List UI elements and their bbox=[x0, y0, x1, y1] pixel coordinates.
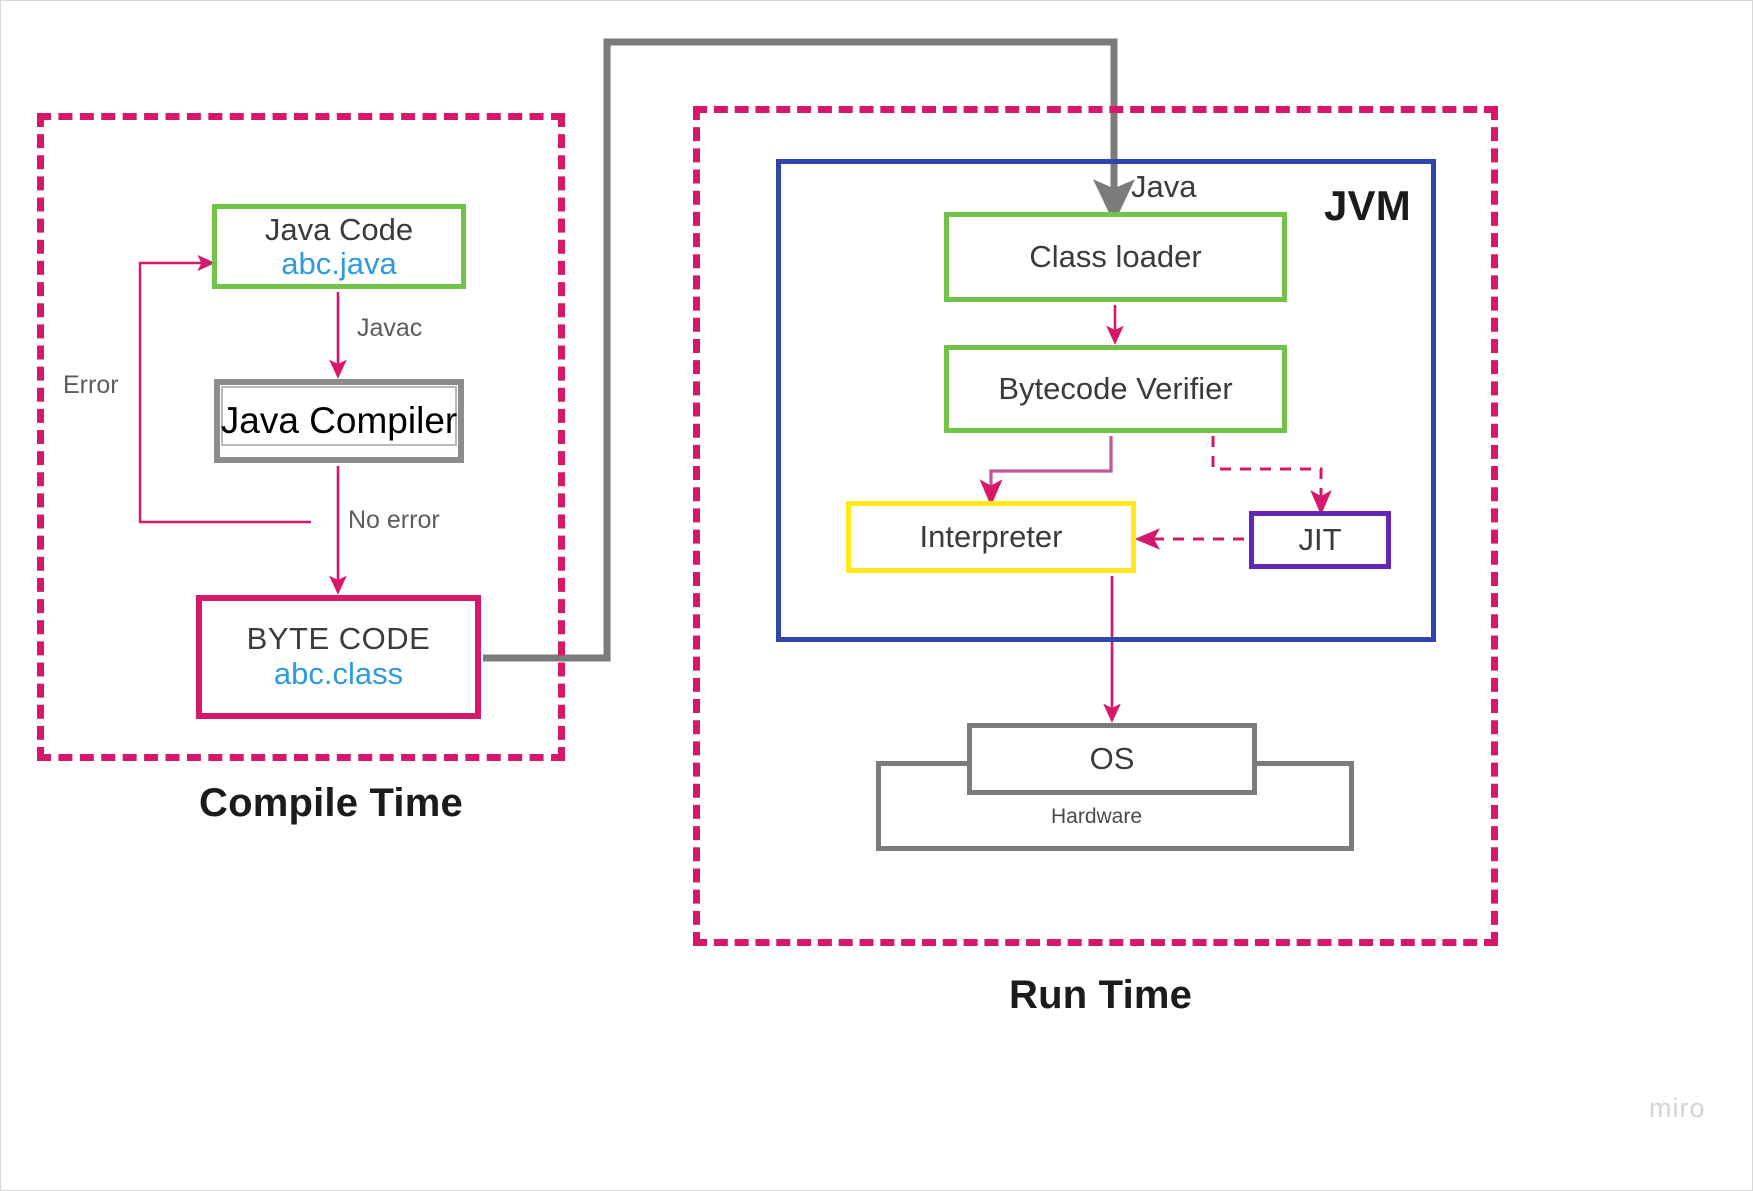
os-box[interactable]: OS bbox=[967, 723, 1257, 795]
class-loader-box[interactable]: Class loader bbox=[944, 212, 1287, 302]
os-label: OS bbox=[1090, 741, 1135, 777]
miro-watermark: miro bbox=[1649, 1093, 1706, 1124]
java-edge-label: Java bbox=[1131, 169, 1196, 205]
byte-code-title: BYTE CODE bbox=[247, 622, 431, 657]
jit-label: JIT bbox=[1298, 522, 1341, 558]
interpreter-box[interactable]: Interpreter bbox=[846, 501, 1136, 573]
run-time-label: Run Time bbox=[1009, 973, 1192, 1018]
bytecode-verifier-label: Bytecode Verifier bbox=[998, 371, 1232, 407]
javac-edge-label: Javac bbox=[357, 314, 422, 343]
compile-time-label: Compile Time bbox=[199, 781, 463, 826]
byte-code-filename: abc.class bbox=[274, 657, 403, 692]
class-loader-label: Class loader bbox=[1029, 239, 1201, 275]
jvm-label: JVM bbox=[1324, 182, 1411, 230]
no-error-edge-label: No error bbox=[348, 506, 440, 535]
diagram-canvas: Java Code abc.java Java Compiler BYTE CO… bbox=[0, 0, 1753, 1191]
bytecode-verifier-box[interactable]: Bytecode Verifier bbox=[944, 345, 1287, 433]
error-edge-label: Error bbox=[63, 371, 119, 400]
hardware-label: Hardware bbox=[1051, 805, 1142, 829]
interpreter-label: Interpreter bbox=[919, 519, 1062, 555]
java-code-title: Java Code bbox=[265, 213, 413, 246]
java-code-box[interactable]: Java Code abc.java bbox=[212, 204, 466, 289]
java-code-filename: abc.java bbox=[281, 247, 396, 280]
jit-box[interactable]: JIT bbox=[1249, 511, 1391, 569]
java-compiler-label: Java Compiler bbox=[214, 379, 464, 463]
byte-code-box[interactable]: BYTE CODE abc.class bbox=[196, 595, 481, 719]
